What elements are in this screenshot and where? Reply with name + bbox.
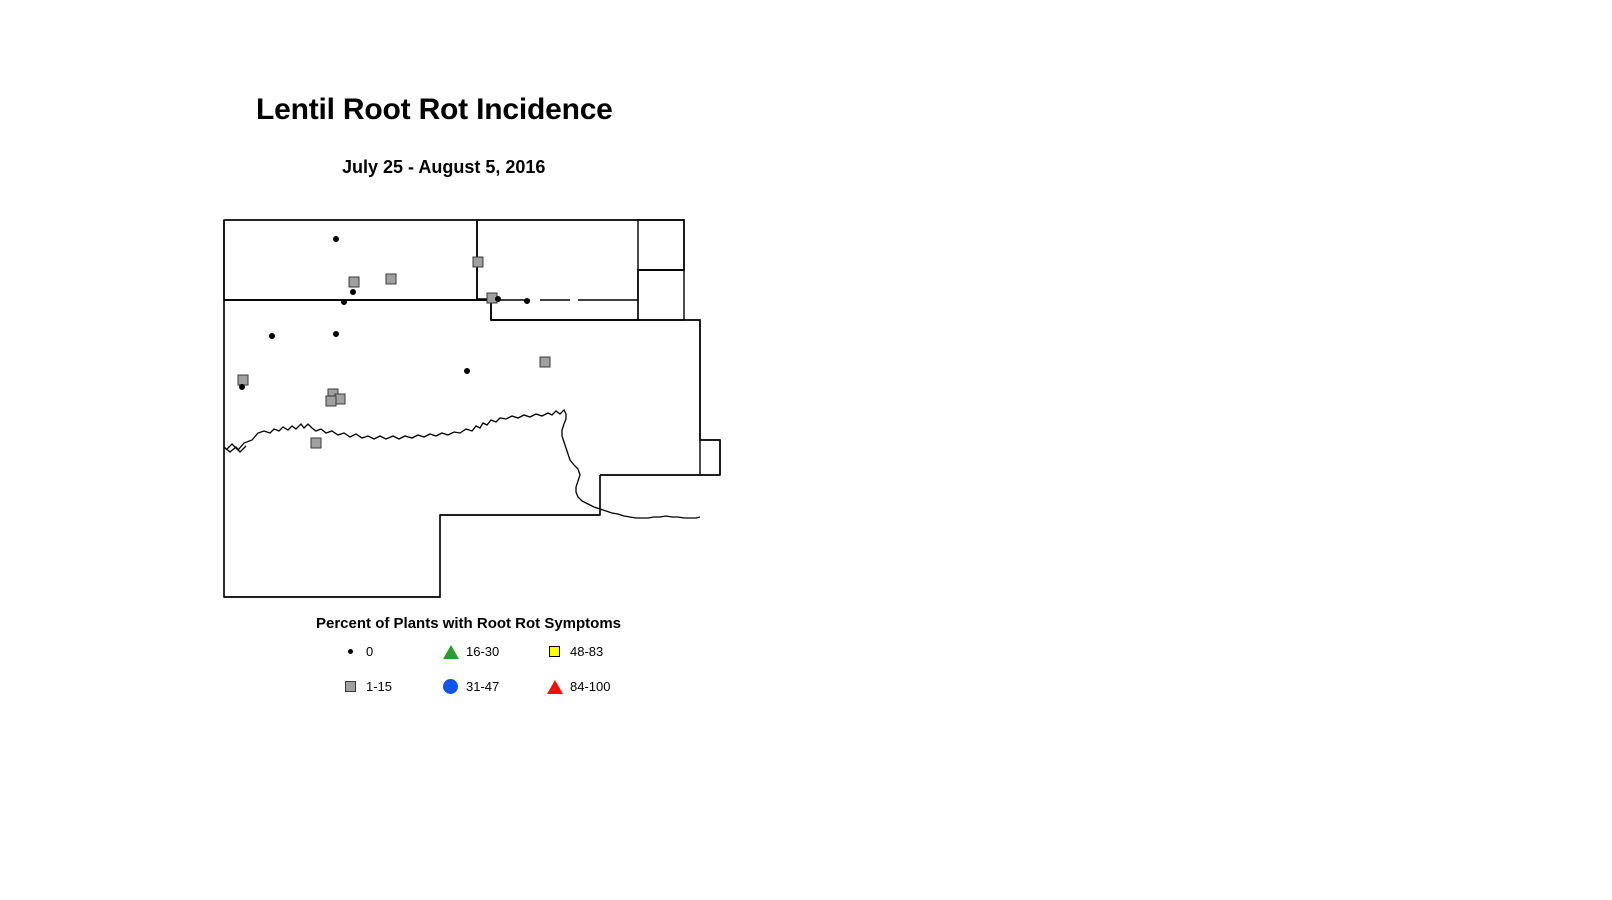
legend-symbol-small-dot-icon — [340, 641, 362, 663]
legend-swatch — [443, 679, 458, 694]
chart-subtitle: July 25 - August 5, 2016 — [342, 157, 545, 178]
legend-symbol-square-icon — [544, 641, 566, 663]
legend-label: 1-15 — [366, 679, 392, 694]
map-point-0 — [333, 331, 338, 336]
map-point-0 — [341, 299, 346, 304]
legend: Percent of Plants with Root Rot Symptoms… — [300, 612, 700, 712]
river-boundary — [226, 410, 700, 518]
county-boundaries — [224, 220, 720, 597]
legend-label: 31-47 — [466, 679, 499, 694]
map-point-1-15 — [540, 357, 550, 367]
legend-symbol-triangle-up-icon — [544, 676, 566, 698]
legend-label: 48-83 — [570, 644, 603, 659]
map-point-0 — [333, 236, 338, 241]
legend-swatch — [549, 646, 560, 657]
legend-label: 0 — [366, 644, 373, 659]
legend-symbol-square-icon — [340, 676, 362, 698]
map-point-1-15 — [386, 274, 396, 284]
legend-label: 16-30 — [466, 644, 499, 659]
legend-swatch — [348, 649, 353, 654]
page-title: Lentil Root Rot Incidence — [256, 93, 613, 127]
data-points — [238, 236, 550, 448]
map-point-1-15 — [311, 438, 321, 448]
map-point-1-15 — [349, 277, 359, 287]
legend-swatch — [345, 681, 356, 692]
map-point-1-15 — [238, 375, 248, 385]
map-svg — [200, 200, 760, 620]
legend-label: 84-100 — [570, 679, 610, 694]
map-point-0 — [495, 296, 500, 301]
map-point-0 — [269, 333, 274, 338]
map-figure: Lentil Root Rot Incidence July 25 - Augu… — [0, 0, 1612, 900]
legend-swatch — [547, 680, 563, 694]
map-point-1-15 — [473, 257, 483, 267]
map-point-0 — [464, 368, 469, 373]
legend-swatch — [443, 645, 459, 659]
legend-title: Percent of Plants with Root Rot Symptoms — [316, 615, 621, 632]
map-point-0 — [239, 384, 244, 389]
county-boundaries-detail — [224, 220, 720, 597]
county-map — [200, 200, 760, 620]
map-point-0 — [524, 298, 529, 303]
map-point-0 — [350, 289, 355, 294]
legend-symbol-circle-icon — [440, 676, 462, 698]
map-point-1-15 — [326, 396, 336, 406]
legend-symbol-triangle-up-icon — [440, 641, 462, 663]
